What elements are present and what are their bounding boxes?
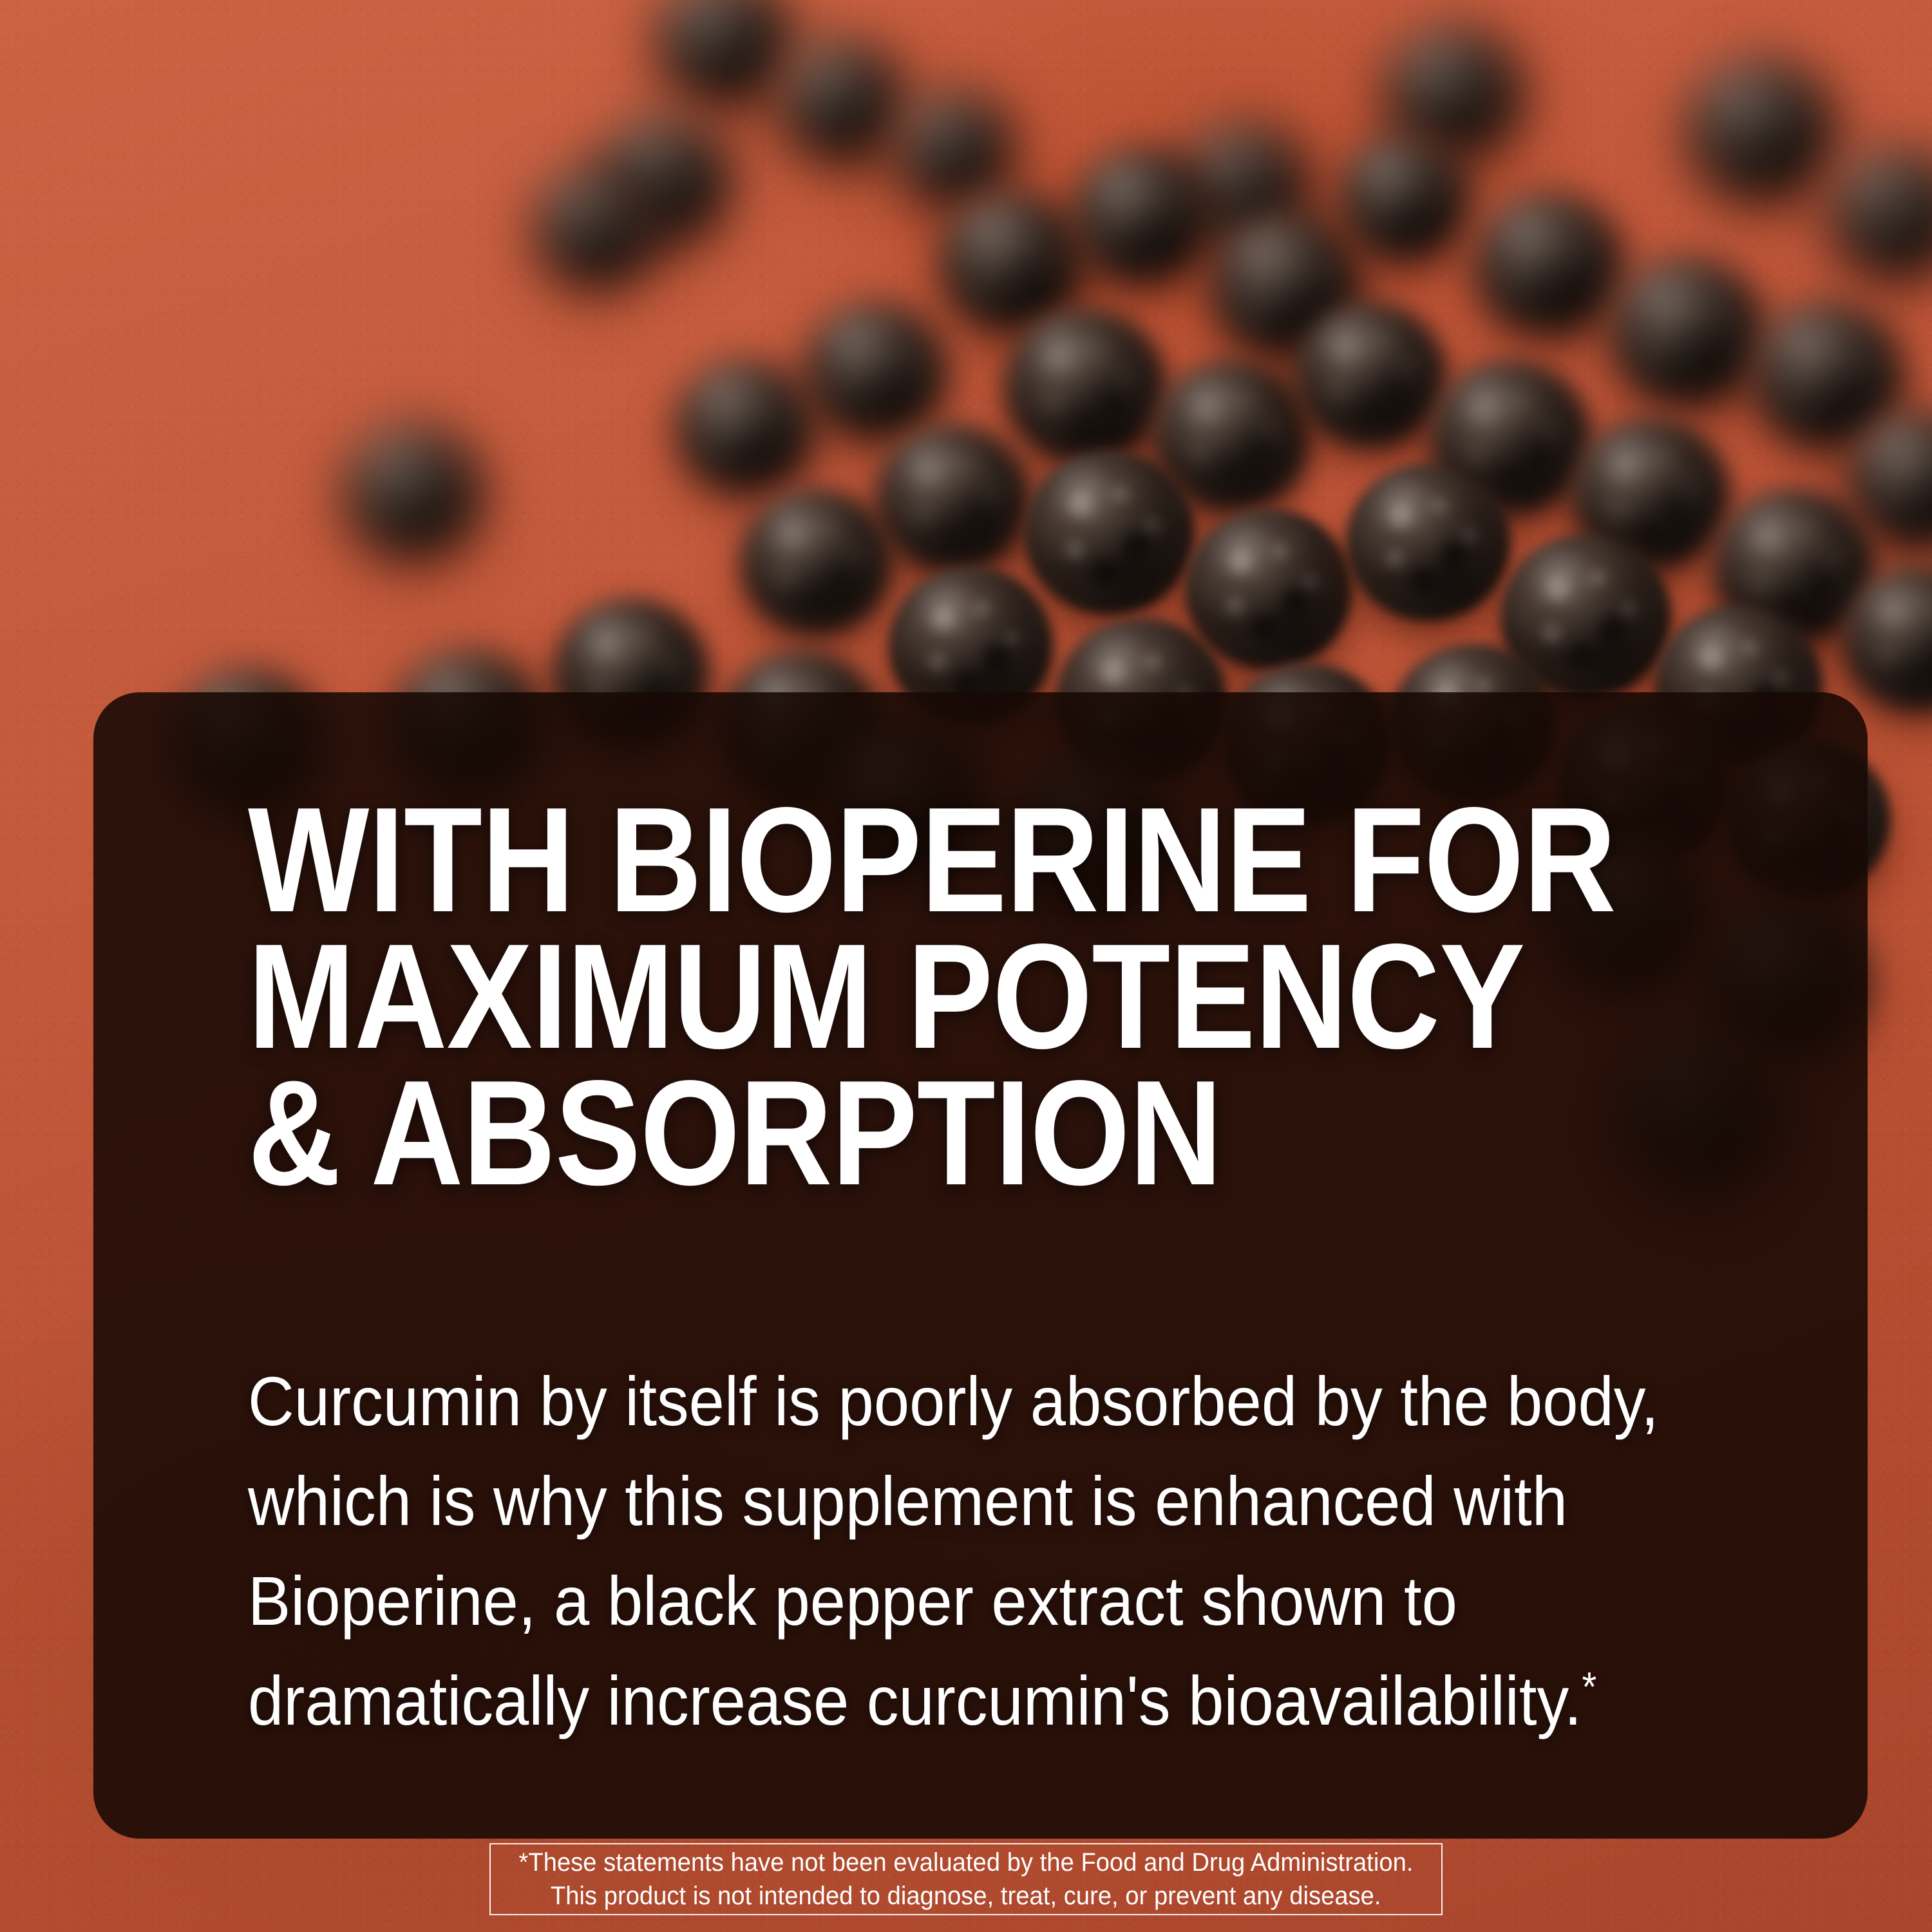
disclaimer-line-1: *These statements have not been evaluate… <box>519 1846 1414 1879</box>
peppercorn <box>876 425 1030 573</box>
peppercorn <box>345 425 483 557</box>
peppercorn <box>1346 464 1510 621</box>
peppercorn <box>1005 309 1166 464</box>
peppercorn <box>741 489 892 634</box>
disclaimer-line-2: This product is not intended to diagnose… <box>551 1879 1381 1913</box>
peppercorn <box>1024 451 1195 615</box>
peppercorn <box>1610 258 1765 406</box>
peppercorn <box>940 193 1085 332</box>
peppercorn <box>895 90 1014 206</box>
peppercorn <box>1294 303 1446 448</box>
peppercorn <box>1340 135 1468 261</box>
peppercorn <box>1687 58 1835 200</box>
footnote-asterisk: * <box>1582 1663 1596 1710</box>
fda-disclaimer-box: *These statements have not been evaluate… <box>489 1843 1443 1915</box>
peppercorn <box>1475 193 1623 335</box>
peppercorn <box>805 303 947 438</box>
product-infographic: WITH BIOPERINE FOR MAXIMUM POTENCY & ABS… <box>0 0 1932 1932</box>
content-panel-inner: WITH BIOPERINE FOR MAXIMUM POTENCY & ABS… <box>93 692 1868 1839</box>
page-title: WITH BIOPERINE FOR MAXIMUM POTENCY & ABS… <box>248 792 1641 1202</box>
peppercorn <box>1072 148 1211 283</box>
peppercorn <box>1185 509 1352 670</box>
content-panel: WITH BIOPERINE FOR MAXIMUM POTENCY & ABS… <box>93 692 1868 1839</box>
peppercorn <box>535 167 657 287</box>
body-paragraph-text: Curcumin by itself is poorly absorbed by… <box>248 1362 1659 1739</box>
peppercorn <box>779 39 905 161</box>
peppercorn <box>676 361 815 493</box>
body-paragraph: Curcumin by itself is poorly absorbed by… <box>248 1351 1738 1750</box>
